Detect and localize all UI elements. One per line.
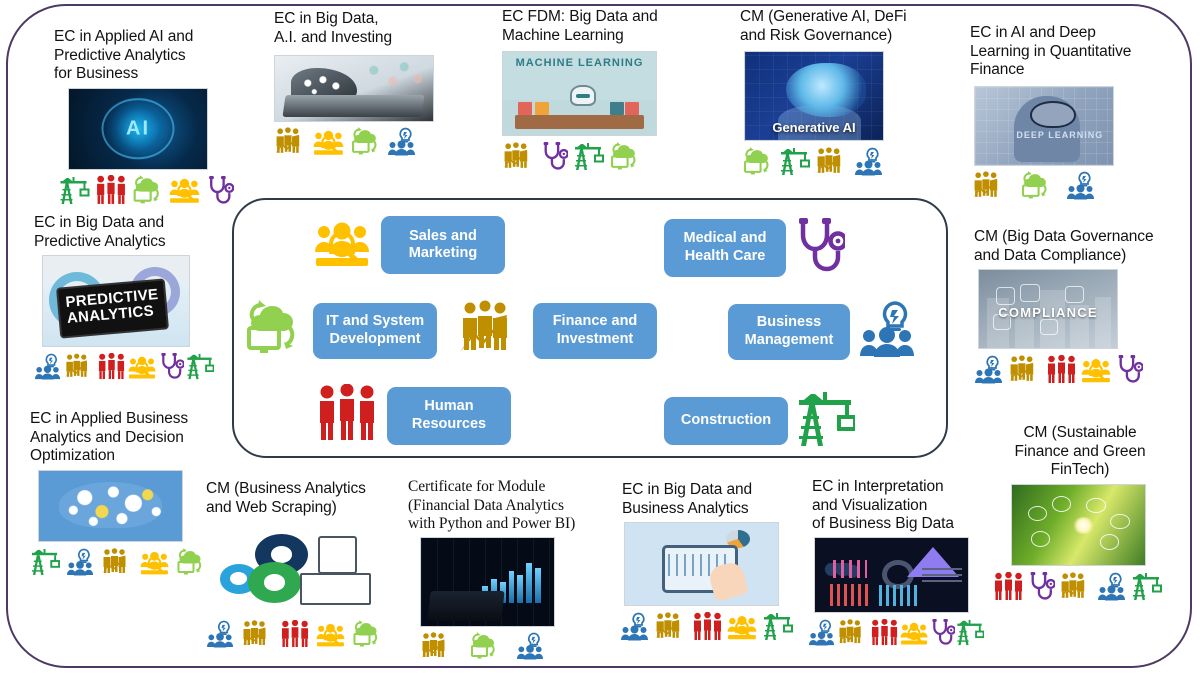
thumbnail-dashboard-visualization	[814, 537, 969, 613]
crane-icon	[58, 175, 90, 205]
three-people-icon	[97, 353, 126, 380]
card-title: Certificate for Module (Financial Data A…	[408, 478, 618, 534]
three-people-icon	[95, 175, 127, 205]
people-growth-arrow-icon	[101, 548, 134, 576]
card-title: CM (Big Data Governance and Data Complia…	[974, 228, 1179, 265]
crane-icon	[956, 618, 984, 646]
thumbnail-caption: Generative AI	[745, 120, 883, 135]
category-human-resources[interactable]: Human Resources	[316, 384, 511, 447]
thumbnail-brain-circuit: Generative AI	[744, 51, 884, 141]
card-title: EC in Applied AI and Predictive Analytic…	[54, 28, 254, 84]
thumbnail-caption: PREDICTIVE ANALYTICS	[65, 286, 166, 328]
cloud-monitor-sync-icon	[244, 300, 304, 361]
card-icon-row	[974, 354, 1179, 384]
card-title: EC in Big Data and Business Analytics	[622, 481, 802, 518]
card-title: EC FDM: Big Data and Machine Learning	[502, 8, 692, 45]
lightbulb-team-icon	[34, 353, 62, 380]
lightbulb-team-icon	[859, 300, 917, 363]
chip-finance-and-investment[interactable]: Finance and Investment	[533, 303, 657, 359]
people-growth-arrow-icon	[502, 142, 536, 171]
thumbnail-caption: COMPLIANCE	[979, 305, 1117, 320]
category-sales-and-marketing[interactable]: Sales and Marketing	[314, 216, 505, 274]
card-cm-big-data-governance-data-compliance[interactable]: CM (Big Data Governance and Data Complia…	[974, 228, 1179, 384]
thumbnail-green-forest-bulb	[1011, 484, 1146, 566]
sales-magnifier-person-icon	[169, 175, 201, 205]
crane-icon	[1131, 571, 1162, 601]
lightbulb-team-icon	[974, 355, 1004, 384]
three-people-icon	[1046, 355, 1077, 384]
card-icon-row	[30, 547, 235, 576]
cloud-monitor-sync-icon	[609, 142, 641, 171]
people-growth-arrow-icon	[274, 127, 308, 156]
card-icon-row	[620, 611, 802, 641]
card-ec-big-data-business-analytics[interactable]: EC in Big Data and Business Analytics	[622, 481, 802, 641]
stethoscope-icon	[1116, 354, 1143, 384]
sales-magnifier-person-icon	[128, 354, 157, 380]
thumbnail-caption: DEEP LEARNING	[1016, 130, 1103, 141]
people-growth-arrow-icon	[1008, 355, 1042, 384]
sales-magnifier-person-icon	[1081, 356, 1112, 384]
chip-medical-and-health-care[interactable]: Medical and Health Care	[664, 219, 786, 277]
people-growth-arrow-icon	[972, 171, 1006, 200]
thumbnail-predictive-analytics: PREDICTIVE ANALYTICS	[42, 255, 190, 347]
chip-business-management[interactable]: Business Management	[728, 304, 850, 360]
three-people-icon	[993, 572, 1024, 601]
cloud-monitor-sync-icon	[469, 632, 500, 660]
center-panel: Sales and Marketing Medical and Health C…	[232, 198, 948, 458]
card-ec-applied-business-analytics-decision-optimization[interactable]: EC in Applied Business Analytics and Dec…	[30, 410, 235, 576]
stethoscope-icon	[930, 618, 955, 646]
crane-icon	[762, 611, 793, 641]
card-certificate-financial-data-analytics[interactable]: Certificate for Module (Financial Data A…	[408, 478, 618, 660]
stethoscope-icon	[206, 175, 234, 205]
card-title: EC in Big Data, A.I. and Investing	[274, 10, 454, 47]
three-people-icon	[692, 612, 723, 641]
card-icon-row	[420, 632, 618, 660]
cloud-monitor-sync-icon	[742, 147, 774, 176]
thumbnail-caption: AI	[69, 117, 207, 140]
thumbnail-robot-hand-keyboard	[274, 55, 434, 122]
people-growth-arrow-icon	[815, 147, 849, 176]
card-title: EC in Big Data and Predictive Analytics	[34, 214, 234, 251]
people-growth-arrow-icon	[458, 300, 524, 361]
card-icon-row	[742, 146, 920, 176]
lightbulb-team-icon	[206, 620, 235, 648]
lightbulb-team-icon	[387, 127, 417, 156]
card-ec-applied-ai-predictive-analytics[interactable]: EC in Applied AI and Predictive Analytic…	[54, 28, 254, 205]
lightbulb-team-icon	[516, 632, 545, 660]
card-ec-big-data-ai-investing[interactable]: EC in Big Data, A.I. and Investing	[274, 10, 454, 156]
people-growth-arrow-icon	[64, 353, 95, 380]
cloud-monitor-sync-icon	[352, 620, 382, 648]
card-ec-interpretation-visualization-business-big-data[interactable]: EC in Interpretation and Visualization o…	[812, 478, 992, 646]
lightbulb-team-icon	[1097, 572, 1127, 601]
people-growth-arrow-icon	[1059, 572, 1093, 601]
crane-icon	[797, 388, 855, 453]
crane-icon	[186, 352, 214, 380]
card-title: EC in Applied Business Analytics and Dec…	[30, 410, 235, 466]
people-growth-arrow-icon	[654, 612, 688, 641]
sales-magnifier-person-icon	[140, 549, 170, 576]
sales-magnifier-person-icon	[316, 621, 346, 648]
card-icon-row	[972, 171, 1170, 200]
people-growth-arrow-icon	[420, 632, 453, 660]
card-title: EC in AI and Deep Learning in Quantitati…	[970, 24, 1170, 80]
thumbnail-laptop-financial-charts	[420, 537, 555, 627]
card-title: EC in Interpretation and Visualization o…	[812, 478, 992, 534]
card-icon-row	[808, 618, 992, 646]
card-cm-generative-ai-defi-risk-governance[interactable]: CM (Generative AI, DeFi and Risk Governa…	[740, 8, 920, 176]
card-ec-ai-deep-learning-quantitative-finance[interactable]: EC in AI and Deep Learning in Quantitati…	[970, 24, 1170, 200]
card-icon-row	[206, 620, 406, 648]
category-business-management[interactable]: Business Management	[728, 300, 917, 363]
thumbnail-ai-circuit: AI	[68, 88, 208, 170]
sales-magnifier-person-icon	[313, 128, 345, 156]
category-medical-and-health-care[interactable]: Medical and Health Care	[664, 216, 845, 279]
thumbnail-tablet-analytics	[624, 522, 779, 606]
cloud-monitor-sync-icon	[132, 175, 164, 205]
crane-icon	[573, 141, 604, 171]
cloud-monitor-sync-icon	[350, 127, 382, 156]
sales-magnifier-person-icon	[900, 620, 929, 646]
card-ec-big-data-predictive-analytics[interactable]: EC in Big Data and Predictive Analytics …	[34, 214, 234, 380]
three-people-icon	[316, 384, 378, 447]
category-construction[interactable]: Construction	[664, 388, 855, 453]
thumbnail-machine-learning: MACHINE LEARNING	[502, 51, 657, 136]
lightbulb-team-icon	[66, 548, 95, 576]
thumbnail-network-cloud	[38, 470, 183, 542]
stethoscope-icon	[795, 216, 845, 279]
lightbulb-team-icon	[1066, 171, 1096, 200]
card-cm-business-analytics-web-scraping[interactable]: CM (Business Analytics and Web Scraping)	[206, 480, 406, 648]
thumbnail-gears-devices	[208, 520, 386, 615]
card-icon-row	[993, 571, 1175, 601]
crane-icon	[30, 547, 60, 576]
card-icon-row	[34, 352, 234, 380]
card-title: CM (Generative AI, DeFi and Risk Governa…	[740, 8, 920, 45]
crane-icon	[779, 146, 810, 176]
thumbnail-compliance-city: COMPLIANCE	[978, 269, 1118, 349]
category-it-and-system-development[interactable]: IT and System Development	[244, 300, 437, 361]
category-finance-and-investment[interactable]: Finance and Investment	[458, 300, 657, 361]
lightbulb-team-icon	[808, 619, 836, 646]
card-ec-fdm-big-data-machine-learning[interactable]: EC FDM: Big Data and Machine Learning MA…	[502, 8, 692, 171]
card-title: CM (Sustainable Finance and Green FinTec…	[985, 424, 1175, 480]
lightbulb-team-icon	[854, 147, 884, 176]
cloud-monitor-sync-icon	[176, 548, 206, 576]
thumbnail-caption: MACHINE LEARNING	[503, 57, 656, 71]
card-icon-row	[58, 175, 254, 205]
card-icon-row	[274, 127, 454, 156]
thumbnail-deep-learning: DEEP LEARNING	[974, 86, 1114, 166]
lightbulb-team-icon	[620, 612, 650, 641]
chip-sales-and-marketing[interactable]: Sales and Marketing	[381, 216, 505, 274]
stethoscope-icon	[541, 141, 568, 171]
stethoscope-icon	[159, 352, 184, 380]
people-growth-arrow-icon	[837, 619, 869, 646]
three-people-icon	[280, 620, 310, 648]
card-cm-sustainable-finance-green-fintech[interactable]: CM (Sustainable Finance and Green FinTec…	[985, 424, 1175, 601]
sales-magnifier-person-icon	[727, 613, 758, 641]
three-people-icon	[870, 619, 899, 646]
card-title: CM (Business Analytics and Web Scraping)	[206, 480, 406, 517]
card-icon-row	[502, 141, 692, 171]
chip-construction[interactable]: Construction	[664, 397, 788, 445]
stethoscope-icon	[1028, 571, 1055, 601]
sales-magnifier-person-icon	[314, 218, 372, 273]
people-growth-arrow-icon	[241, 620, 274, 648]
chip-it-and-system-development[interactable]: IT and System Development	[313, 303, 437, 359]
cloud-monitor-sync-icon	[1020, 171, 1052, 200]
chip-human-resources[interactable]: Human Resources	[387, 387, 511, 445]
